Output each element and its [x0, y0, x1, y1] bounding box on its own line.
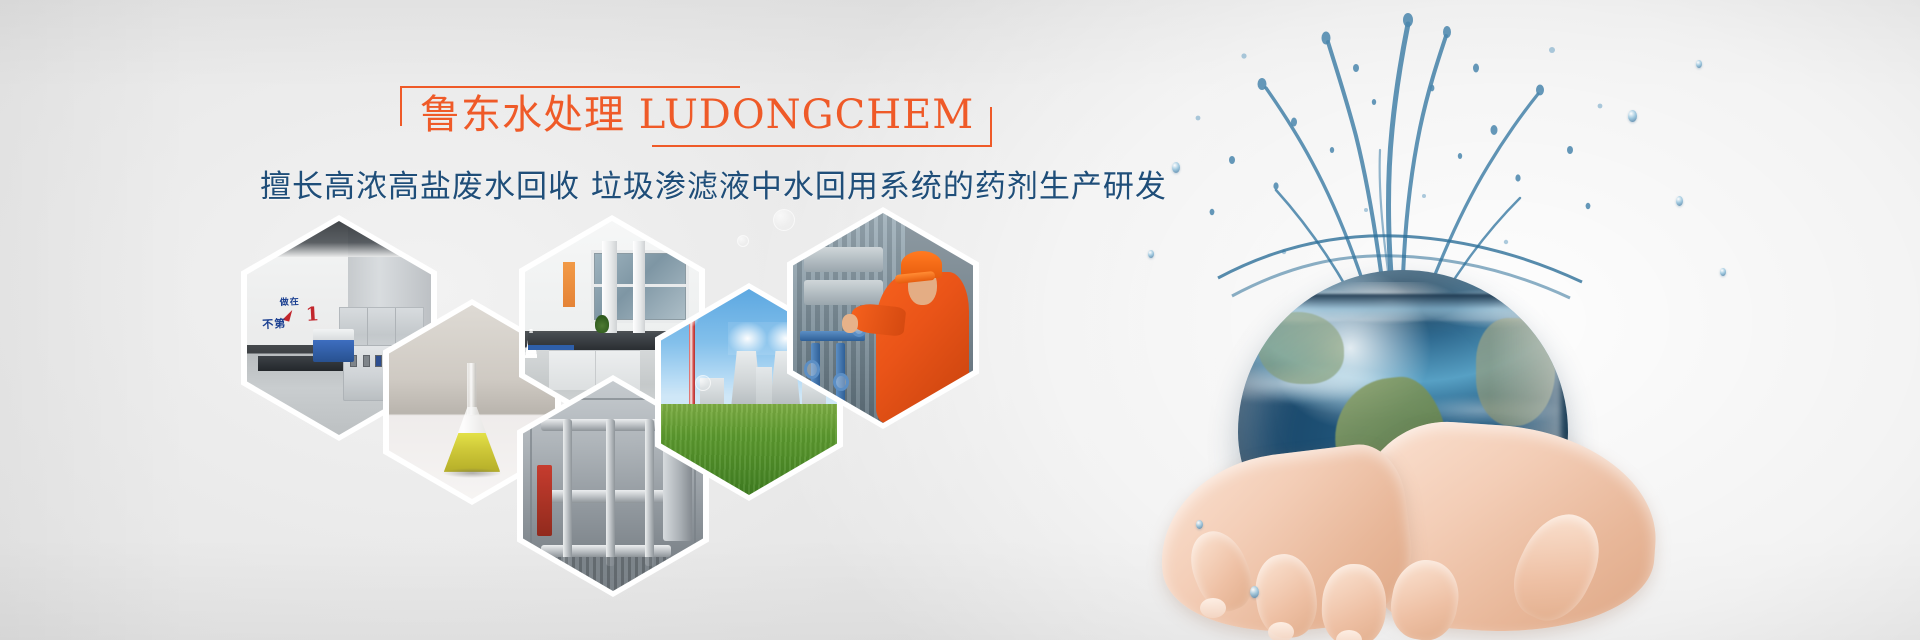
hex5-steam-plume — [728, 322, 767, 355]
hexagon-photo-collage: 做在 不第 1 — [225, 215, 985, 545]
hex1-slogan-line1: 做在 — [279, 294, 300, 308]
hex4-floor-grating — [523, 557, 703, 591]
decorative-bubble — [773, 209, 795, 231]
hex3-column-2 — [633, 241, 645, 339]
hex5-chimney — [689, 318, 695, 409]
headline-block: 鲁东水处理 LUDONGCHEM 擅长高浓高盐废水回收 垃圾渗滤液中水回用系统的… — [260, 86, 1050, 207]
page-title: 鲁东水处理 LUDONGCHEM — [420, 92, 974, 139]
hex3-potted-plant — [595, 315, 609, 333]
hex6-membrane-rack — [804, 280, 883, 305]
cupped-hands — [1160, 408, 1680, 640]
hex1-blue-instrument — [313, 339, 353, 363]
hex5-plant-building — [756, 367, 772, 404]
frame-corner-bottom-right — [990, 107, 992, 147]
hero-banner: 鲁东水处理 LUDONGCHEM 擅长高浓高盐废水回收 垃圾渗滤液中水回用系统的… — [0, 0, 1920, 640]
hex1-ceiling — [247, 221, 431, 257]
hex6-valve-handwheel — [804, 360, 820, 379]
fingernail — [1200, 598, 1226, 618]
water-globe-artwork — [1130, 0, 1830, 640]
water-droplet — [1172, 162, 1180, 173]
hex1-panel-2 — [363, 355, 370, 367]
page-subtitle: 擅长高浓高盐废水回收 垃圾渗滤液中水回用系统的药剂生产研发 — [260, 167, 1050, 207]
hex1-white-drum — [247, 399, 264, 427]
water-droplet — [1148, 250, 1154, 258]
hex2-yellow-liquid — [444, 433, 500, 472]
hex2-conical-flask — [444, 363, 500, 472]
hex2-flask-shadow — [442, 468, 502, 478]
hex1-slogan-line2: 不第 — [262, 314, 287, 331]
frame-line-bottom — [652, 145, 992, 147]
hex3-wall-poster — [563, 262, 575, 307]
frame-line-top — [400, 86, 740, 88]
title-decorative-frame: 鲁东水处理 LUDONGCHEM — [400, 86, 992, 147]
water-droplet — [1696, 60, 1702, 68]
decorative-bubble — [695, 375, 711, 391]
globe-landmass-north — [1258, 312, 1344, 384]
water-droplet — [1676, 196, 1683, 206]
hex1-panel-3 — [375, 355, 382, 367]
hex6-valve-handwheel — [833, 373, 849, 392]
hex4-red-unit — [537, 465, 551, 536]
hex1-slogan-number: 1 — [305, 303, 319, 326]
decorative-bubble — [737, 235, 749, 247]
water-droplet — [1628, 110, 1637, 122]
hex6-safety-helmet — [901, 251, 942, 278]
hex4-pipe-vertical — [563, 419, 572, 566]
finger — [1321, 563, 1388, 640]
water-droplet — [1196, 520, 1203, 529]
hex1-white-drum — [247, 399, 264, 427]
hex1-white-drum — [247, 399, 264, 427]
water-droplet — [1250, 586, 1259, 598]
hex6-worker-hand — [842, 314, 858, 333]
hex4-pipe-vertical — [645, 419, 654, 566]
fingernail — [1268, 622, 1294, 640]
frame-corner-top-left — [400, 86, 402, 126]
water-droplet — [1720, 268, 1726, 276]
hex4-pipe-vertical — [606, 419, 615, 566]
hex1-wall-slogan: 做在 不第 1 — [261, 292, 348, 343]
